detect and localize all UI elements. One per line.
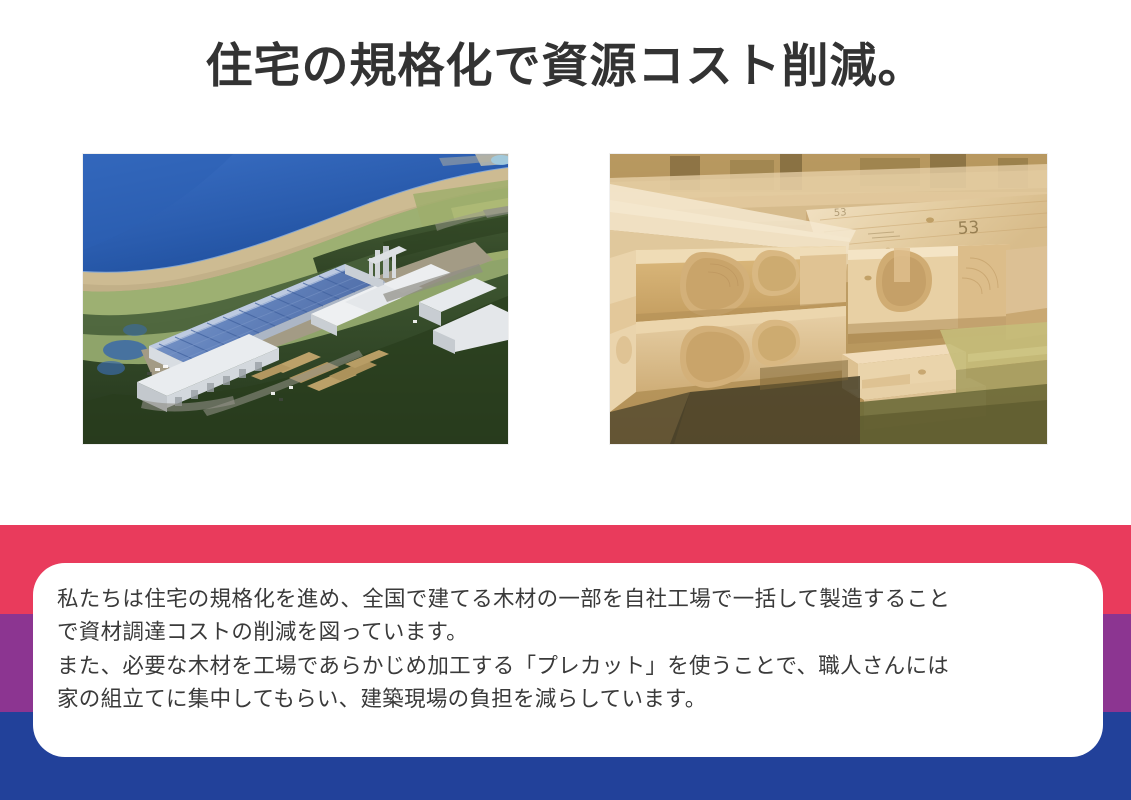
slide-root: 住宅の規格化で資源コスト削減。 bbox=[0, 0, 1131, 800]
body-text-card: 私たちは住宅の規格化を進め、全国で建てる木材の一部を自社工場で一括して製造するこ… bbox=[33, 563, 1103, 757]
aerial-factory-illustration bbox=[83, 154, 508, 444]
aerial-factory-photo bbox=[83, 154, 508, 444]
precut-timber-photo: 53 53 bbox=[610, 154, 1047, 444]
page-title: 住宅の規格化で資源コスト削減。 bbox=[0, 38, 1131, 97]
precut-timber-illustration: 53 53 bbox=[610, 154, 1047, 444]
svg-text:53: 53 bbox=[834, 207, 847, 219]
body-text: 私たちは住宅の規格化を進め、全国で建てる木材の一部を自社工場で一括して製造するこ… bbox=[57, 583, 1079, 716]
svg-text:53: 53 bbox=[957, 218, 980, 239]
